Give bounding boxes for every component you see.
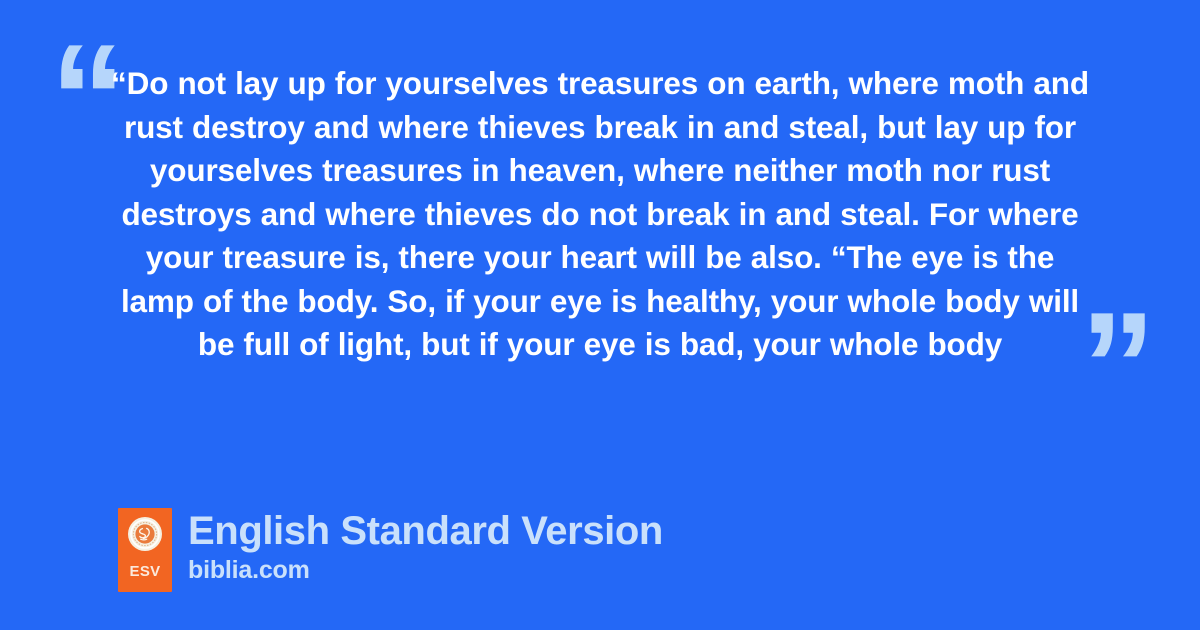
source-site-url: biblia.com bbox=[188, 556, 663, 584]
verse-quote-card: “ ” “Do not lay up for yourselves treasu… bbox=[0, 0, 1200, 630]
quote-body: “Do not lay up for yourselves treasures … bbox=[108, 62, 1092, 367]
attribution: ESV English Standard Version biblia.com bbox=[118, 508, 663, 592]
esv-seal-icon bbox=[128, 517, 162, 551]
esv-logo-abbreviation: ESV bbox=[130, 564, 161, 579]
esv-logo: ESV bbox=[118, 508, 172, 592]
verse-text: “Do not lay up for yourselves treasures … bbox=[108, 62, 1092, 367]
bible-version-name: English Standard Version bbox=[188, 508, 663, 554]
attribution-text: English Standard Version biblia.com bbox=[188, 508, 663, 584]
